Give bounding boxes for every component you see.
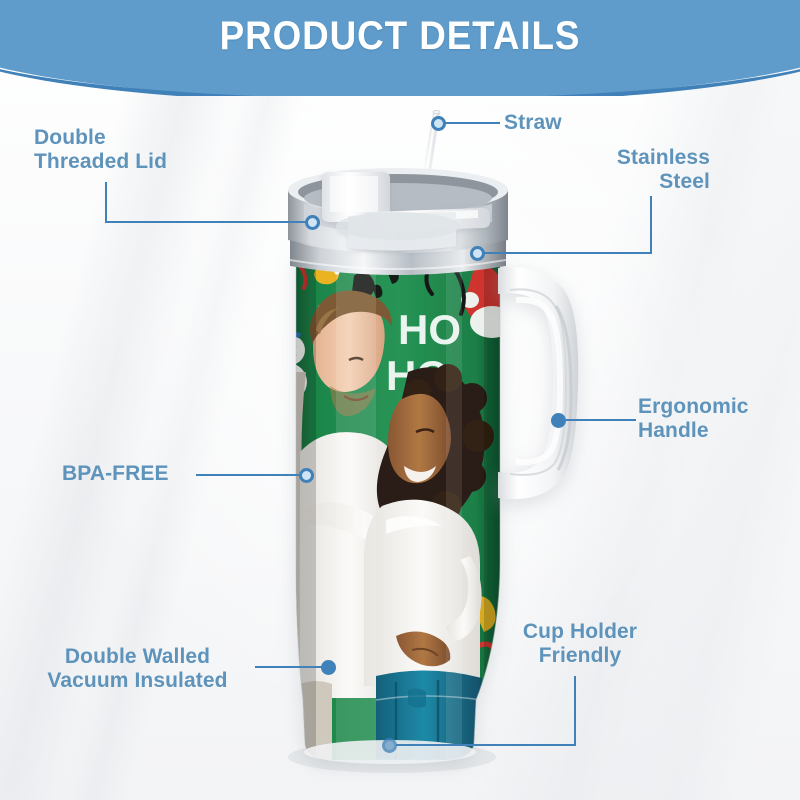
callout-label-cup-holder-friendly: Cup Holder Friendly (490, 620, 670, 667)
leader-line-cup-holder-horizontal (396, 744, 576, 746)
leader-line-cup-holder-vertical (574, 676, 576, 745)
marker-straw[interactable] (431, 116, 446, 131)
leader-line-stainless-steel-horizontal (484, 252, 652, 254)
leader-line-ergonomic-handle (566, 419, 636, 421)
marker-double-walled[interactable] (321, 660, 336, 675)
leader-line-straw (444, 122, 500, 124)
callout-label-ergonomic-handle: Ergonomic Handle (638, 395, 794, 442)
callout-label-stainless-steel: Stainless Steel (520, 146, 710, 193)
leader-line-double-threaded-lid-vertical (105, 182, 107, 222)
page-title: PRODUCT DETAILS (32, 14, 768, 59)
callout-label-bpa-free: BPA-FREE (62, 462, 169, 486)
infographic-canvas: PRODUCT DETAILS (0, 0, 800, 800)
leader-line-double-walled (255, 666, 325, 668)
callout-label-double-walled: Double Walled Vacuum Insulated (10, 645, 265, 692)
leader-line-stainless-steel-vertical (650, 196, 652, 253)
marker-double-threaded-lid[interactable] (305, 215, 320, 230)
callout-label-straw: Straw (504, 111, 562, 135)
leader-line-double-threaded-lid-horizontal (105, 221, 308, 223)
marker-bpa-free[interactable] (299, 468, 314, 483)
callout-label-double-threaded-lid: Double Threaded Lid (34, 126, 167, 173)
marker-cup-holder-friendly[interactable] (382, 738, 397, 753)
leader-line-bpa-free (196, 474, 306, 476)
marker-ergonomic-handle[interactable] (551, 413, 566, 428)
marker-stainless-steel[interactable] (470, 246, 485, 261)
